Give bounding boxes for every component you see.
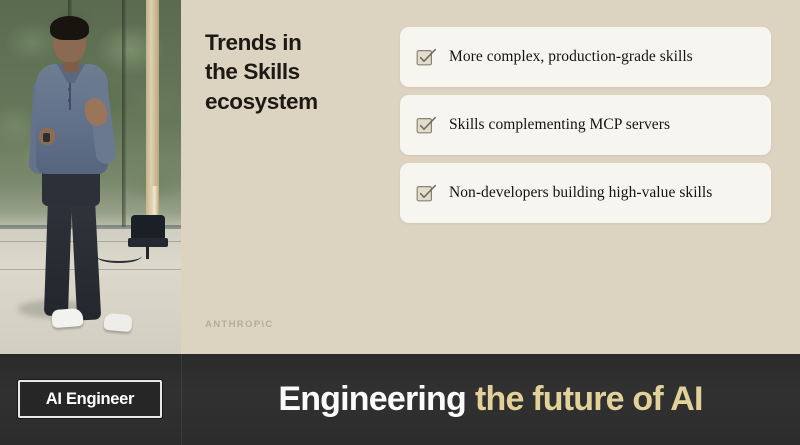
shirt-button [68,99,71,102]
ai-engineer-logo-badge[interactable]: AI Engineer [18,380,162,418]
slide-title: Trends in the Skills ecosystem [205,28,395,116]
stage-cable [96,249,142,263]
speaker-shoe [103,313,132,332]
banner-headline-primary: Engineering [278,380,466,419]
banner-headline-accent: the future of AI [475,380,703,419]
trend-card-label: Non-developers building high-value skill… [449,185,712,201]
shirt-placket [69,80,71,110]
trend-card[interactable]: More complex, production-grade skills [400,27,771,87]
trend-card[interactable]: Non-developers building high-value skill… [400,163,771,223]
speaker-video-feed[interactable] [0,0,181,354]
banner-headline: Engineering the future of AI [181,354,800,445]
checkbox-checked-icon [416,183,437,204]
speaker-hair [50,16,89,40]
presentation-slide: Trends in the Skills ecosystem More comp… [181,0,800,354]
anthropic-wordmark: ANTHROP\C [205,319,274,330]
window-mullion [122,0,126,234]
trend-card-label: More complex, production-grade skills [449,49,693,65]
speaker-leg [44,196,72,317]
shirt-button [68,88,71,91]
stage-light-stand [146,245,149,259]
checkbox-checked-icon [416,47,437,68]
ai-engineer-logo-label: AI Engineer [46,390,134,409]
screen: Trends in the Skills ecosystem More comp… [0,0,800,445]
checkbox-checked-icon [416,115,437,136]
trend-card-list: More complex, production-grade skills Sk… [400,27,771,223]
bottom-banner: AI Engineer Engineering the future of AI [0,354,800,445]
trend-card-label: Skills complementing MCP servers [449,117,670,133]
trend-card[interactable]: Skills complementing MCP servers [400,95,771,155]
presentation-clicker [43,133,50,142]
speaker-shoe [51,308,83,328]
